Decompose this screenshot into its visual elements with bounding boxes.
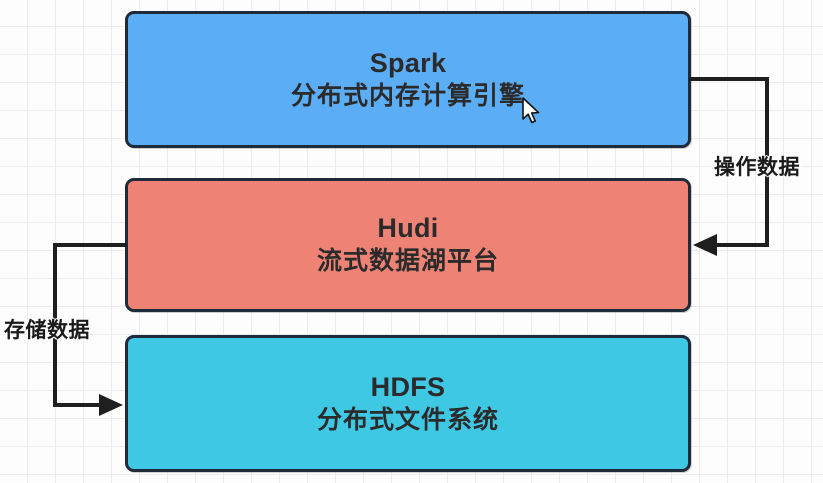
mouse-pointer-icon <box>521 97 543 127</box>
diagram-canvas: Spark 分布式内存计算引擎 Hudi 流式数据湖平台 HDFS 分布式文件系… <box>0 0 823 483</box>
edge-hudi-to-hdfs-arrowhead <box>99 394 123 416</box>
node-hdfs[interactable]: HDFS 分布式文件系统 <box>125 335 691 472</box>
node-hdfs-title: HDFS <box>371 372 446 404</box>
edge-label-operate-data: 操作数据 <box>714 151 800 181</box>
node-hdfs-subtitle: 分布式文件系统 <box>317 406 499 436</box>
node-spark-subtitle: 分布式内存计算引擎 <box>291 82 525 112</box>
node-hudi-title: Hudi <box>377 213 438 245</box>
edge-label-store-data: 存储数据 <box>4 314 90 344</box>
edge-spark-to-hudi-arrowhead <box>693 234 717 256</box>
node-hudi[interactable]: Hudi 流式数据湖平台 <box>125 178 691 312</box>
node-spark-title: Spark <box>370 48 447 80</box>
node-hudi-subtitle: 流式数据湖平台 <box>317 247 499 277</box>
node-spark[interactable]: Spark 分布式内存计算引擎 <box>125 11 691 148</box>
